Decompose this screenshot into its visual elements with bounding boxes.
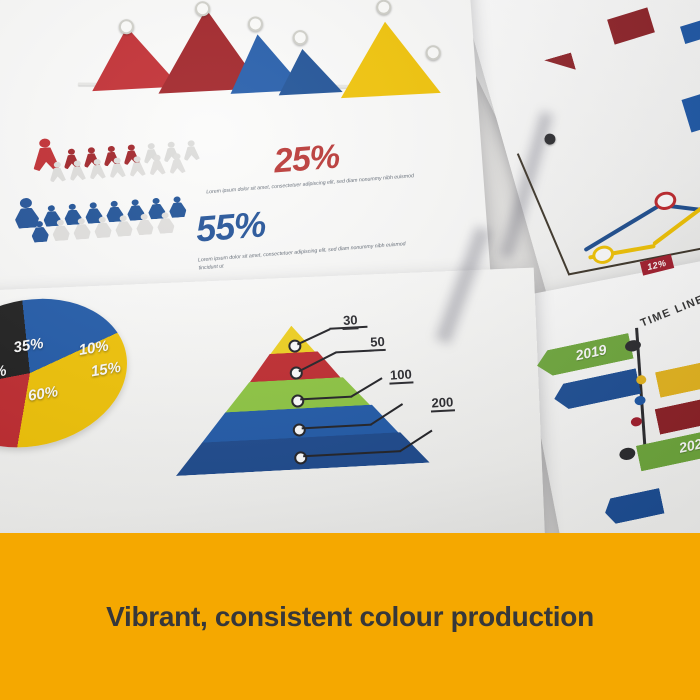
person-icon-inactive	[68, 160, 86, 181]
pyramid-label-100: 100	[389, 367, 414, 384]
marker-knot-4	[292, 30, 308, 46]
person-icon-inactive	[93, 216, 112, 238]
pyramid-label-200: 200	[430, 395, 455, 412]
timeline-dot-4	[630, 416, 643, 427]
timeline-entry-yellow	[655, 352, 700, 397]
person-icon-inactive	[72, 218, 91, 240]
marker-knot-5	[376, 0, 392, 15]
person-icon-inactive	[148, 154, 166, 175]
area-peak-chart	[68, 0, 463, 104]
person-icon-inactive	[128, 156, 146, 177]
person-icon-inactive	[168, 153, 186, 174]
person-icon-inactive	[48, 161, 66, 182]
timeline-dot-2	[635, 374, 647, 385]
person-icon-inactive	[88, 158, 106, 179]
caption-text: Vibrant, consistent colour production	[106, 601, 594, 633]
stat-value-25: 25%	[273, 138, 341, 182]
peak-5	[337, 19, 441, 98]
screenshot-root: 25% Lorem ipsum dolor sit amet, consecte…	[0, 0, 700, 700]
caption-band: Vibrant, consistent colour production	[0, 533, 700, 700]
person-icon-inactive	[108, 157, 126, 178]
callout-line-2b	[336, 349, 374, 353]
peak-4	[276, 47, 342, 95]
pyramid-chart: 30 50 100 200	[190, 319, 424, 511]
stat-value-55: 55%	[194, 203, 266, 250]
person-icon-inactive	[30, 221, 49, 243]
timeline-dot-5	[618, 446, 636, 461]
pie-chart: 35% 10% 15% 60% 0%	[0, 295, 136, 455]
timeline-dot-3	[634, 395, 647, 406]
pyramid-label-30: 30	[342, 313, 359, 330]
person-icon-inactive	[51, 219, 70, 241]
person-icon-inactive	[135, 213, 154, 235]
pyramid-label-50: 50	[369, 335, 386, 352]
timeline-entry-blue	[552, 368, 642, 411]
person-icon-inactive	[114, 215, 133, 237]
callout-line-1	[297, 328, 330, 345]
photo-area: 25% Lorem ipsum dolor sit amet, consecte…	[0, 0, 700, 535]
callout-line-3b	[351, 377, 383, 397]
marker-knot-3	[248, 16, 264, 32]
person-icon-inactive	[156, 212, 175, 234]
timeline-entry-blue-bottom	[602, 488, 664, 525]
